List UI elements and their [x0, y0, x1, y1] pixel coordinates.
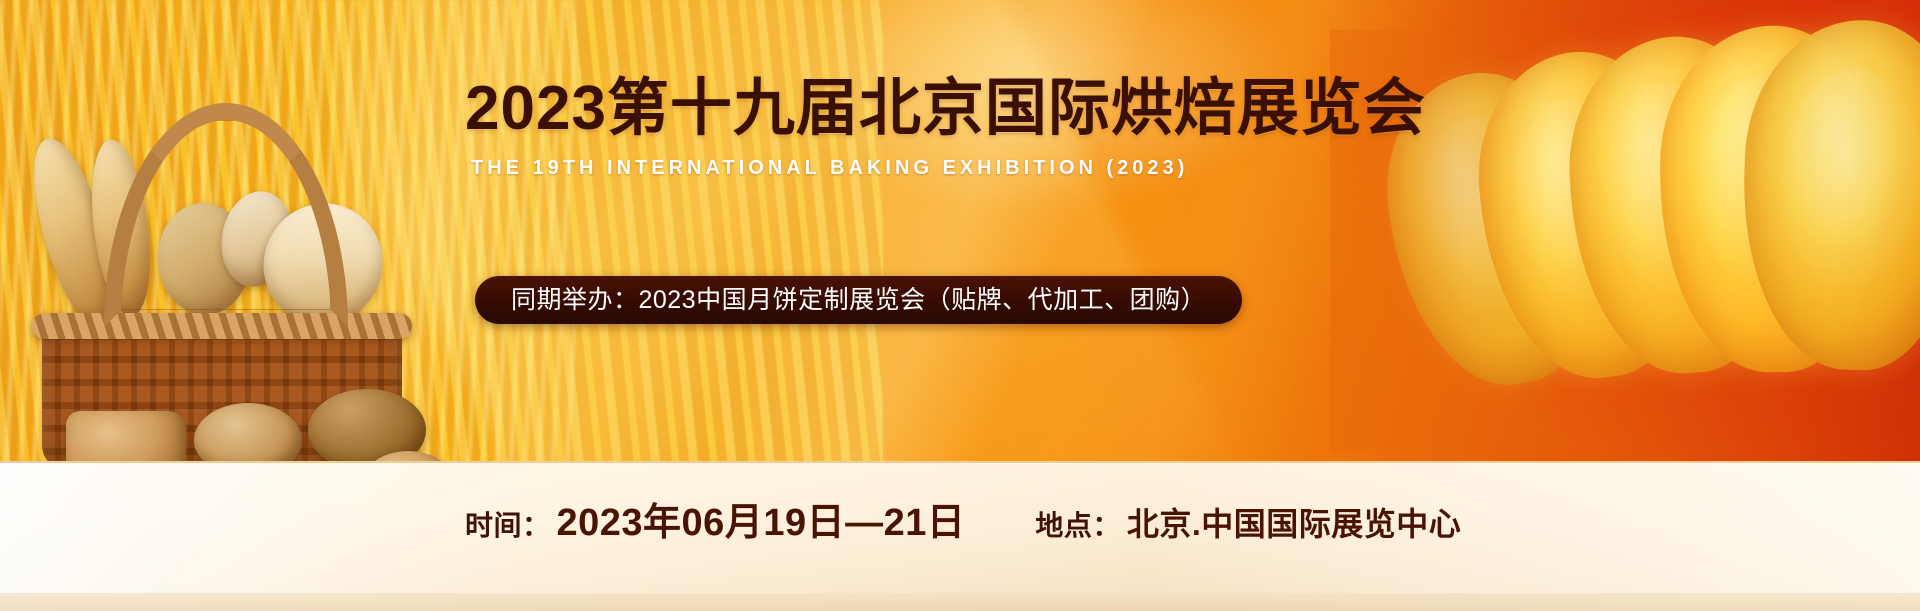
event-time-value: 2023年06月19日—21日 [557, 491, 966, 546]
event-place-label: 地点： [1035, 504, 1121, 544]
event-time-label: 时间： [465, 504, 551, 544]
concurrent-event-badge: 同期举办：2023中国月饼定制展览会（贴牌、代加工、团购） [475, 276, 1242, 324]
basket-handle [104, 103, 348, 327]
page-subtitle: THE 19TH INTERNATIONAL BAKING EXHIBITION… [471, 158, 1188, 178]
event-place-group: 地点： 北京.中国国际展览中心 [1035, 499, 1461, 545]
event-place-value: 北京.中国国际展览中心 [1127, 499, 1461, 545]
exhibition-banner: 2023第十九届北京国际烘焙展览会 THE 19TH INTERNATIONAL… [0, 0, 1920, 611]
event-info-bar: 时间： 2023年06月19日—21日 地点： 北京.中国国际展览中心 [0, 461, 1920, 611]
page-title: 2023第十九届北京国际烘焙展览会 [465, 78, 1426, 140]
bottom-edge-strip [0, 593, 1920, 611]
event-info-row: 时间： 2023年06月19日—21日 地点： 北京.中国国际展览中心 [465, 491, 1461, 546]
concurrent-event-label: 同期举办：2023中国月饼定制展览会（贴牌、代加工、团购） [511, 288, 1206, 313]
event-time-group: 时间： 2023年06月19日—21日 [465, 491, 965, 546]
